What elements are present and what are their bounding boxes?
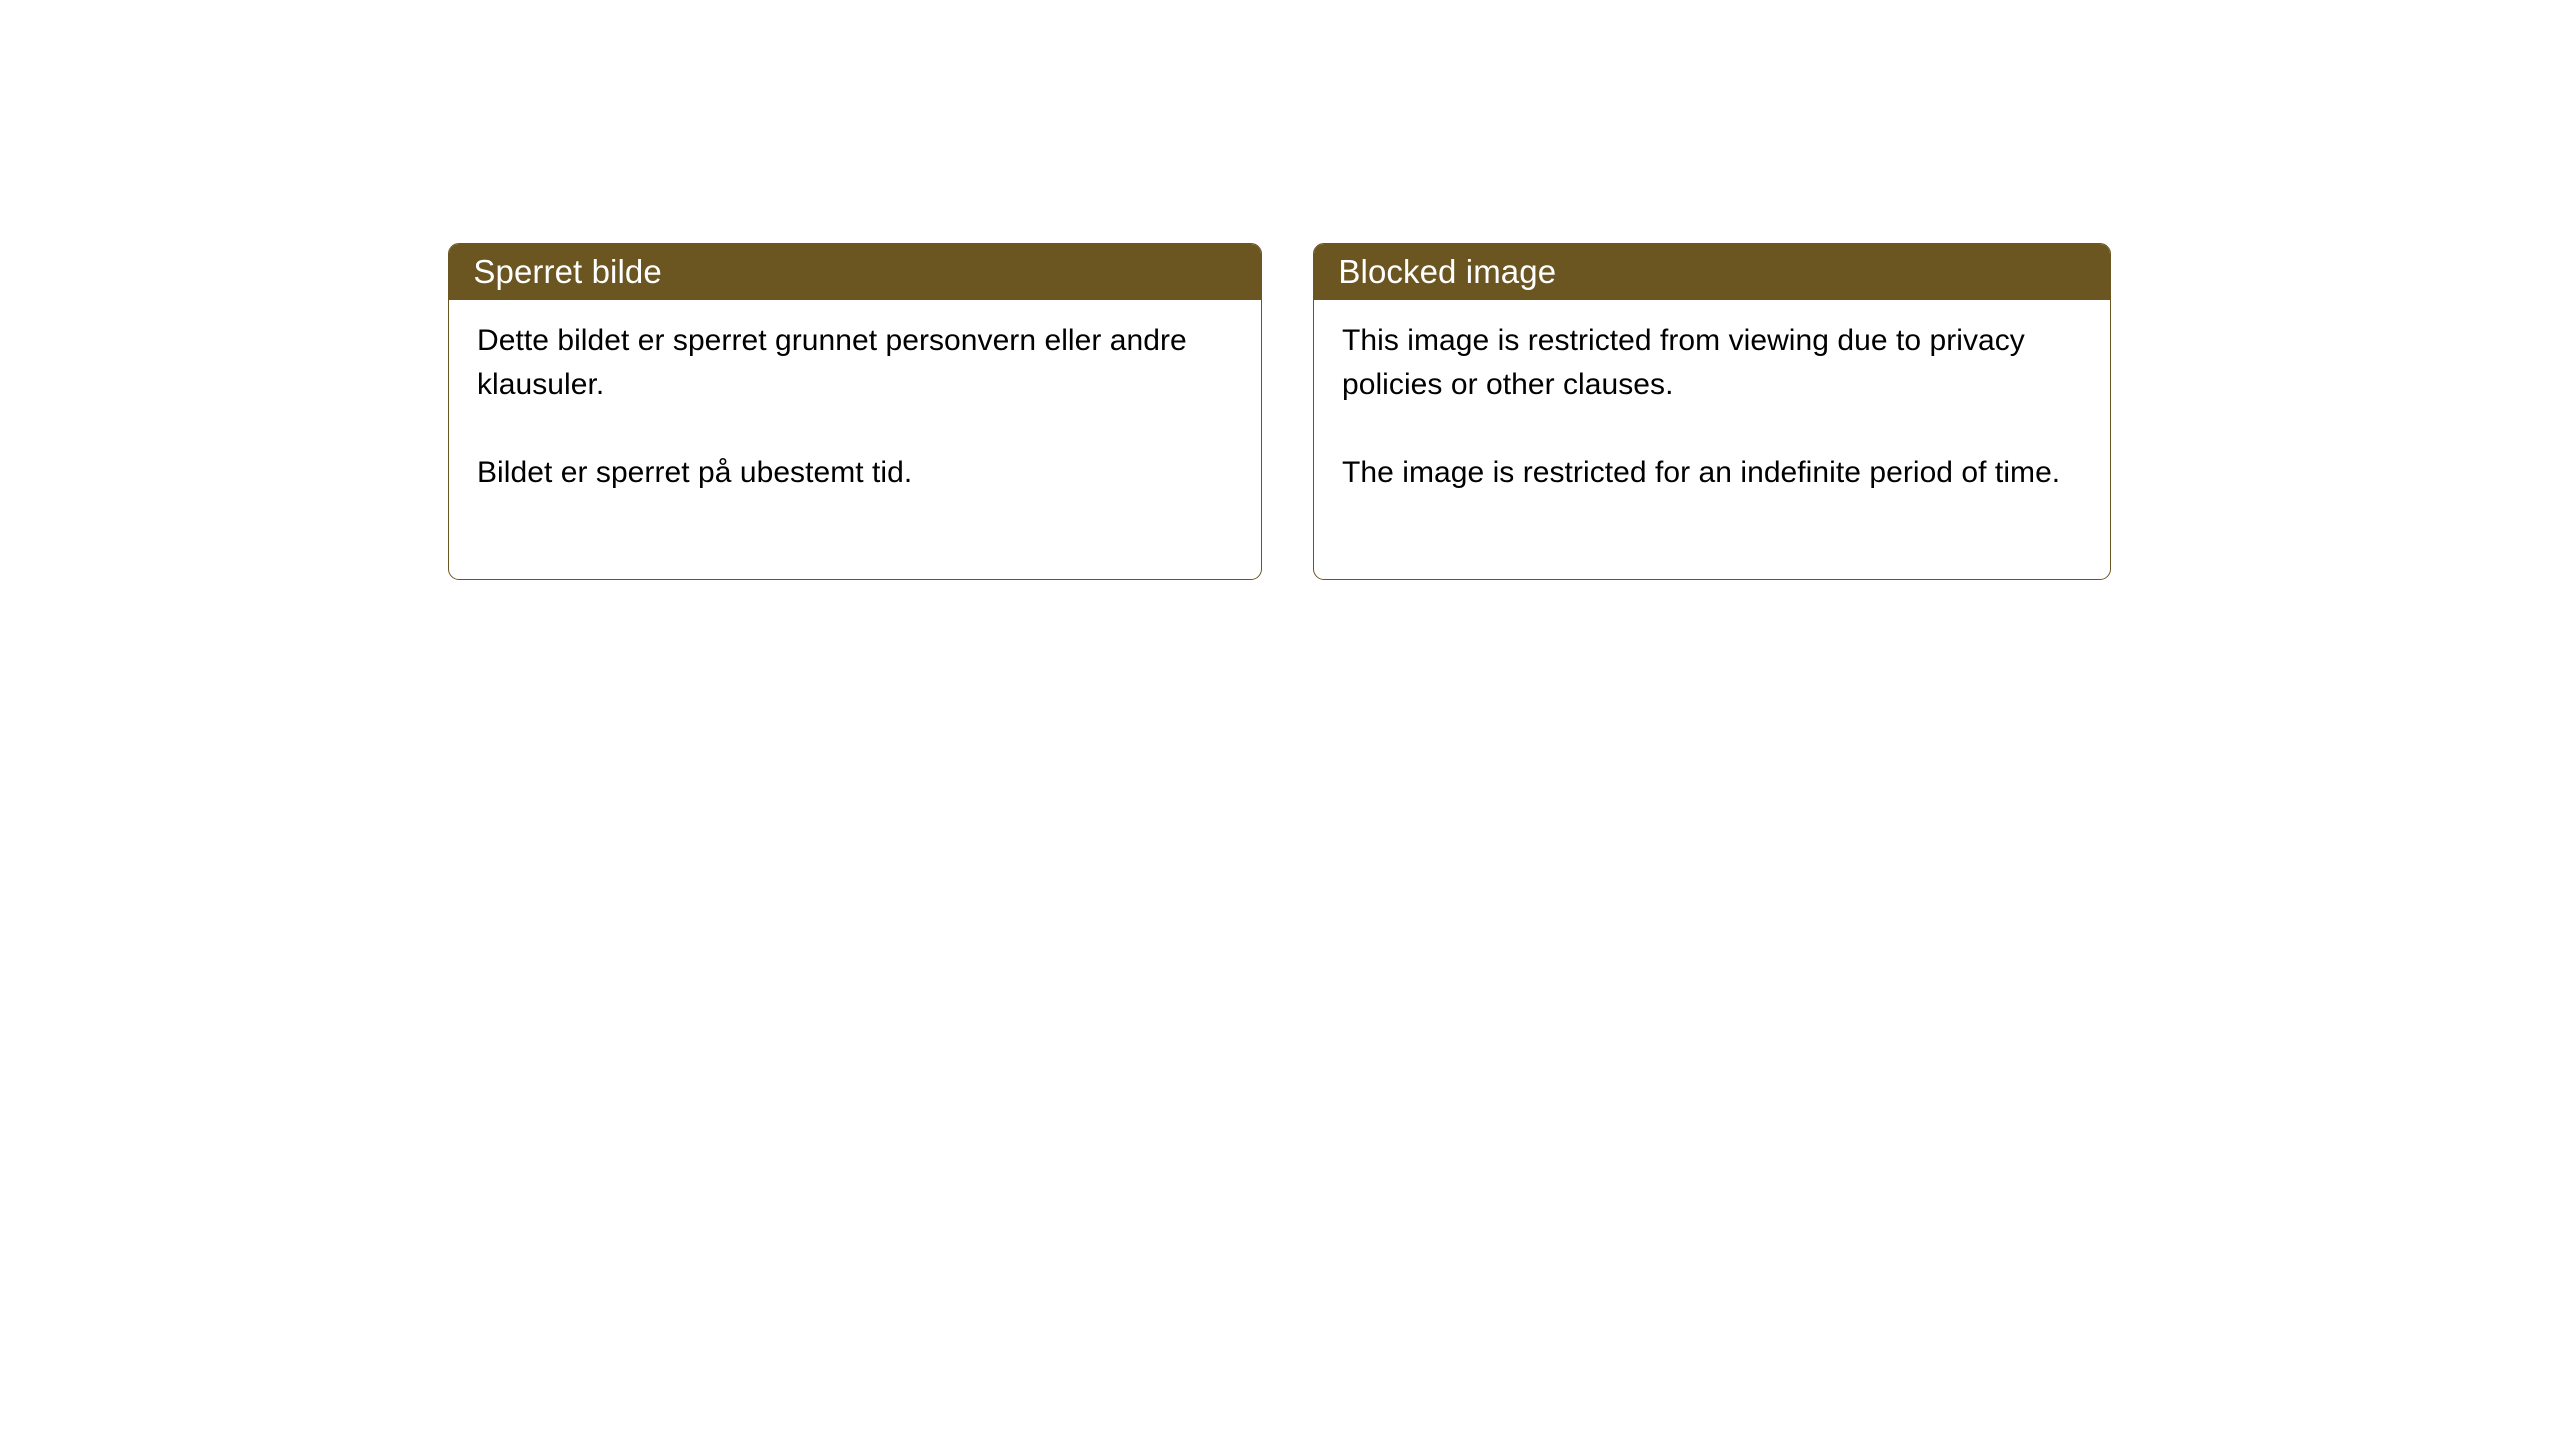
notice-paragraph-reason-english: This image is restricted from viewing du… [1342, 319, 2084, 407]
notice-title-norwegian: Sperret bilde [473, 255, 661, 288]
blocked-image-notice-english: Blocked image This image is restricted f… [1313, 243, 2111, 580]
notice-header-norwegian: Sperret bilde [448, 243, 1262, 300]
notice-paragraph-reason-norwegian: Dette bildet er sperret grunnet personve… [477, 319, 1235, 407]
notice-title-english: Blocked image [1338, 255, 1556, 288]
notice-header-english: Blocked image [1313, 243, 2111, 300]
notice-paragraph-duration-norwegian: Bildet er sperret på ubestemt tid. [477, 451, 1235, 495]
notice-body-english: This image is restricted from viewing du… [1314, 300, 2110, 579]
notice-paragraph-duration-english: The image is restricted for an indefinit… [1342, 451, 2084, 495]
blocked-image-notice-norwegian: Sperret bilde Dette bildet er sperret gr… [448, 243, 1262, 580]
notice-body-norwegian: Dette bildet er sperret grunnet personve… [449, 300, 1261, 579]
page-canvas: Sperret bilde Dette bildet er sperret gr… [0, 0, 2560, 1440]
